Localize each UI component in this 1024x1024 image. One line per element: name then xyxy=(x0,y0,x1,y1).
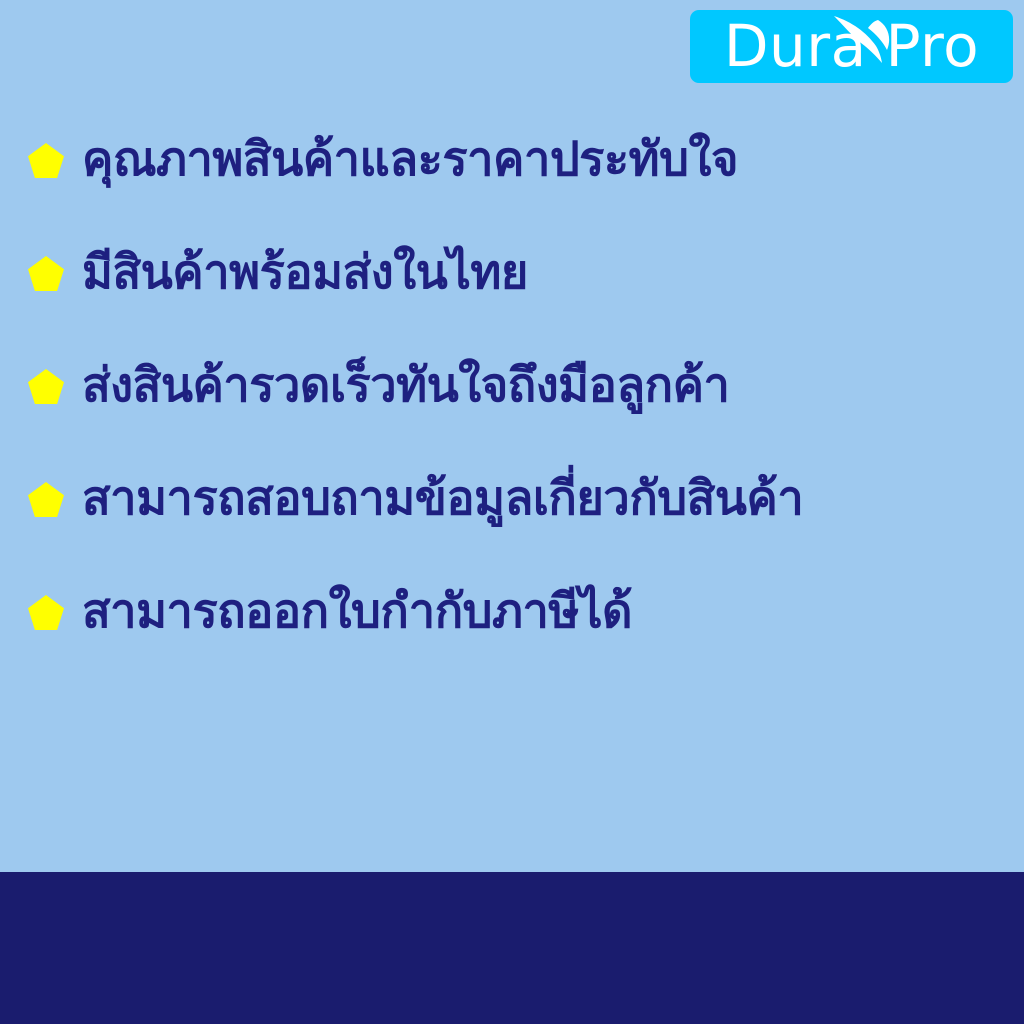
pentagon-bullet-icon xyxy=(28,595,64,630)
feature-item-label: ส่งสินค้ารวดเร็วทันใจถึงมือลูกค้า xyxy=(82,361,1024,412)
pentagon-bullet-icon xyxy=(28,256,64,291)
feature-item-label: มีสินค้าพร้อมส่งในไทย xyxy=(82,248,1024,299)
promo-poster: Dura Pro คุณภาพสินค้าและราคาประทับใจ มีส… xyxy=(0,0,1024,1024)
pentagon-bullet-icon xyxy=(28,369,64,404)
feature-item-3: ส่งสินค้ารวดเร็วทันใจถึงมือลูกค้า xyxy=(0,330,1024,443)
feature-list: คุณภาพสินค้าและราคาประทับใจ มีสินค้าพร้อ… xyxy=(0,104,1024,669)
pentagon-bullet-icon xyxy=(28,143,64,178)
pentagon-bullet-icon xyxy=(28,482,64,517)
feature-item-5: สามารถออกใบกำกับภาษีได้ xyxy=(0,556,1024,669)
feature-item-1: คุณภาพสินค้าและราคาประทับใจ xyxy=(0,104,1024,217)
feature-item-4: สามารถสอบถามข้อมูลเกี่ยวกับสินค้า xyxy=(0,443,1024,556)
bottom-color-band xyxy=(0,872,1024,1024)
brand-logo-badge: Dura Pro xyxy=(690,10,1013,83)
feature-item-label: สามารถออกใบกำกับภาษีได้ xyxy=(82,587,1024,638)
feature-item-label: สามารถสอบถามข้อมูลเกี่ยวกับสินค้า xyxy=(82,474,1024,525)
feature-item-2: มีสินค้าพร้อมส่งในไทย xyxy=(0,217,1024,330)
feature-item-label: คุณภาพสินค้าและราคาประทับใจ xyxy=(82,135,1024,186)
brand-logo-text: Dura Pro xyxy=(690,10,1013,83)
